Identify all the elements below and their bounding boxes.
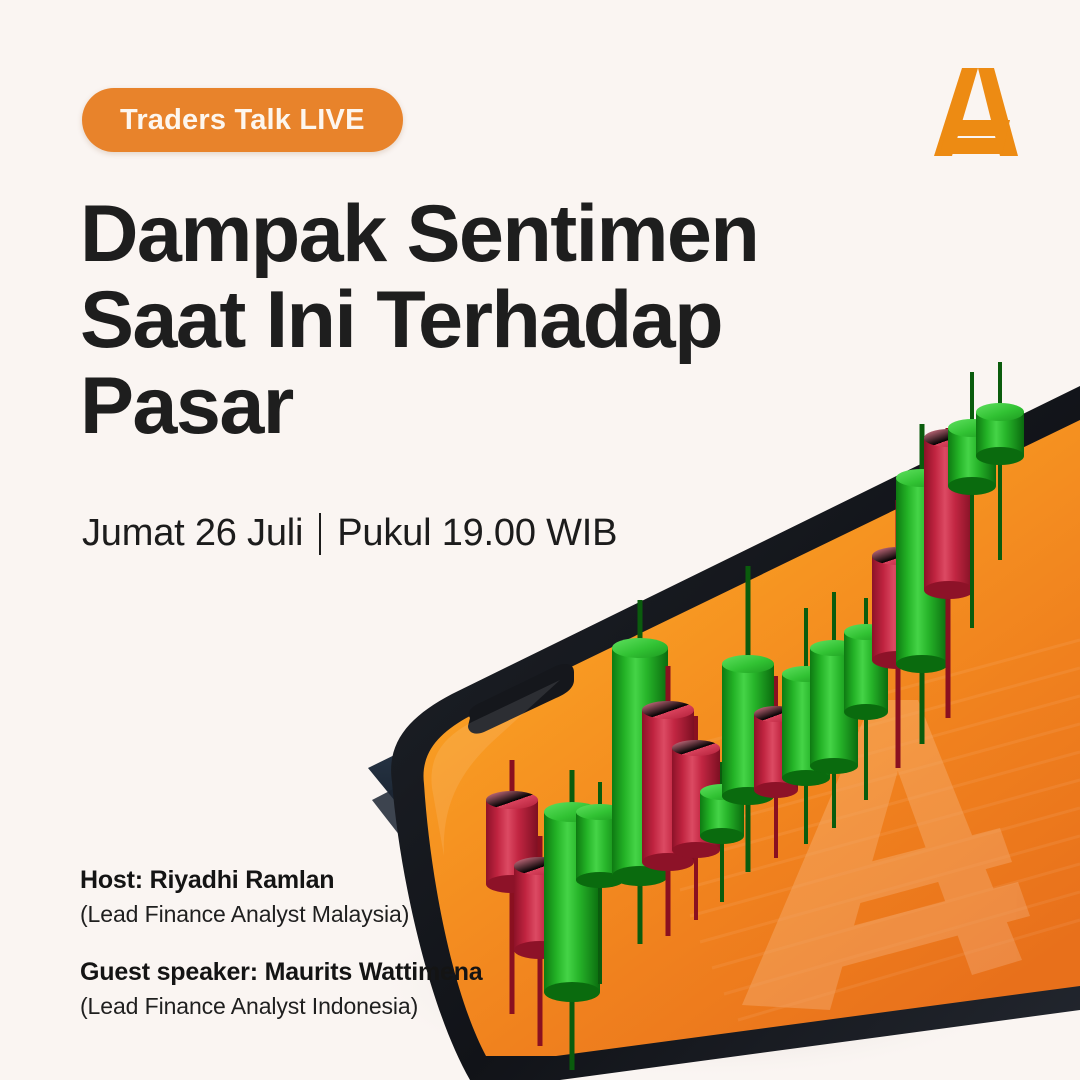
screen-watermark-a-logo — [640, 640, 1080, 1020]
headline-line-3: Pasar — [80, 364, 840, 450]
live-badge: Traders Talk LIVE — [82, 88, 403, 152]
phone-volume-button — [452, 758, 504, 792]
page-title: Dampak Sentimen Saat Ini Terhadap Pasar — [80, 192, 840, 450]
candle-17-bullish — [948, 372, 996, 628]
candle-10-bearish — [754, 676, 798, 858]
candle-5-bullish — [612, 600, 668, 944]
headline-line-1: Dampak Sentimen — [80, 192, 840, 278]
schedule-separator — [319, 513, 321, 555]
candle-8-bullish — [700, 762, 744, 902]
promo-poster: Traders Talk LIVE Dampak Sentimen Saat I… — [0, 0, 1080, 1080]
guest-name: Guest speaker: Maurits Wattimena — [80, 958, 483, 987]
headline-line-2: Saat Ini Terhadap — [80, 278, 840, 364]
candle-12-bullish — [810, 592, 858, 828]
phone-side-rail — [368, 648, 648, 812]
phone-bezel — [391, 386, 1080, 1080]
schedule-time: Pukul 19.00 WIB — [337, 512, 617, 555]
candle-9-bullish — [722, 566, 774, 872]
guest-credit: Guest speaker: Maurits Wattimena (Lead F… — [80, 958, 483, 1020]
candle-2-bearish — [514, 836, 566, 1046]
candle-1-bearish — [486, 760, 538, 1014]
schedule-line: Jumat 26 Juli Pukul 19.00 WIB — [82, 512, 617, 555]
candle-15-bullish — [896, 424, 948, 744]
candle-14-bearish — [872, 500, 924, 768]
live-badge-label: Traders Talk LIVE — [120, 104, 365, 137]
candlestick-series — [486, 362, 1024, 1070]
host-name: Host: Riyadhi Ramlan — [80, 866, 483, 895]
host-credit: Host: Riyadhi Ramlan (Lead Finance Analy… — [80, 866, 483, 928]
guest-role: (Lead Finance Analyst Indonesia) — [80, 993, 483, 1020]
host-role: (Lead Finance Analyst Malaysia) — [80, 901, 483, 928]
candle-6-bearish — [642, 666, 694, 936]
candle-11-bullish — [782, 608, 830, 844]
credits-block: Host: Riyadhi Ramlan (Lead Finance Analy… — [80, 866, 483, 1050]
schedule-date: Jumat 26 Juli — [82, 512, 303, 555]
brand-a-logo-icon — [922, 62, 1018, 162]
phone-notch — [468, 664, 574, 734]
candle-4-bullish — [576, 782, 624, 984]
candle-7-bearish — [672, 716, 720, 920]
candle-18-bullish — [976, 362, 1024, 560]
candle-13-bullish — [844, 598, 888, 800]
candle-16-bearish — [924, 428, 974, 718]
candle-3-bullish — [544, 770, 600, 1070]
